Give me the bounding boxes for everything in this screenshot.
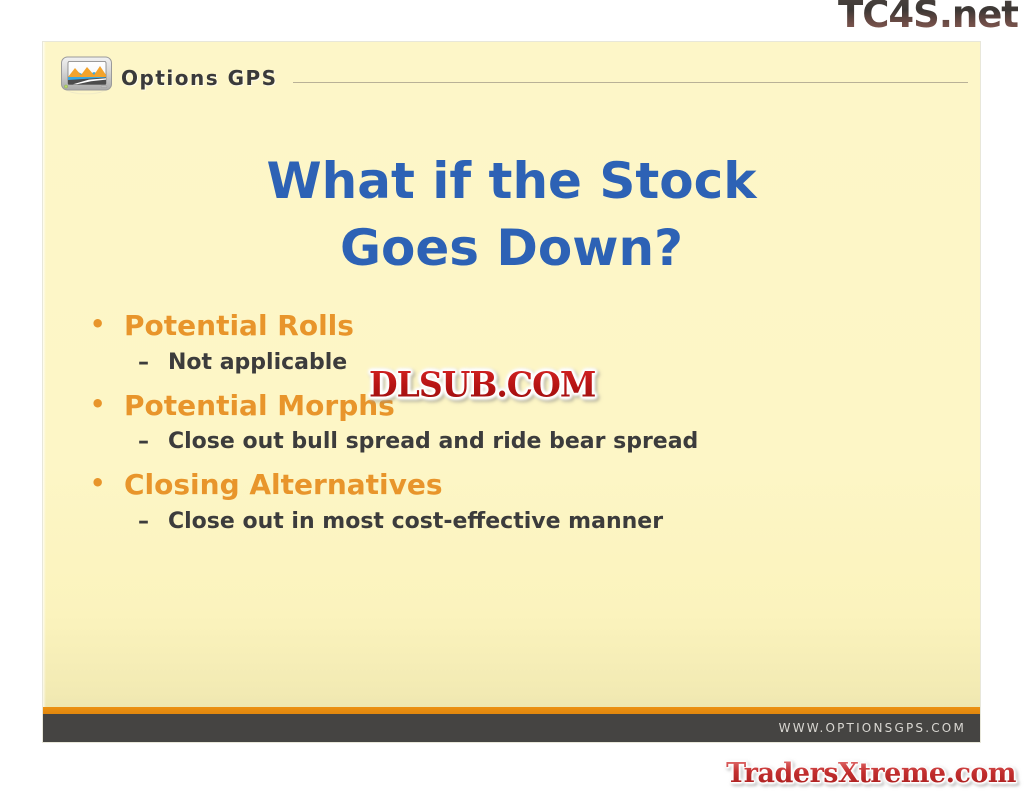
brand-name: Options GPS [121, 66, 278, 90]
header-divider [293, 82, 968, 83]
slide-header: Options GPS [43, 42, 980, 104]
title-line-2: Goes Down? [43, 215, 980, 283]
bullet-marker-icon: • [90, 386, 124, 423]
slide-footer: WWW.OPTIONSGPS.COM [43, 714, 980, 742]
page-canvas: TC4S.net [0, 0, 1024, 791]
dash-marker-icon: – [138, 426, 168, 458]
bullet-label: Potential Rolls [124, 306, 950, 346]
list-item: • Closing Alternatives [90, 465, 950, 505]
sub-bullet-label: Close out in most cost-effective manner [168, 506, 950, 538]
bullet-list: • Potential Rolls – Not applicable • Pot… [90, 306, 950, 545]
bullet-marker-icon: • [90, 306, 124, 343]
sub-list-item: – Close out bull spread and ride bear sp… [138, 426, 950, 458]
list-item: • Potential Rolls [90, 306, 950, 346]
dlsub-watermark: DLSUB.COM [369, 367, 595, 402]
dash-marker-icon: – [138, 347, 168, 379]
title-line-1: What if the Stock [43, 148, 980, 216]
sub-bullet-label: Close out bull spread and ride bear spre… [168, 426, 950, 458]
dash-marker-icon: – [138, 506, 168, 538]
footer-url: WWW.OPTIONSGPS.COM [779, 721, 966, 735]
gps-navigation-device-icon [60, 55, 120, 101]
page-title: What if the Stock Goes Down? [43, 148, 980, 283]
tc4s-watermark: TC4S.net [838, 0, 1018, 33]
bullet-marker-icon: • [90, 465, 124, 502]
accent-bar [43, 707, 980, 714]
sub-list-item: – Close out in most cost-effective manne… [138, 506, 950, 538]
bullet-group: • Closing Alternatives – Close out in mo… [90, 465, 950, 538]
bullet-label: Closing Alternatives [124, 465, 950, 505]
tradersxtreme-watermark: TradersXtreme.com [726, 760, 1016, 787]
